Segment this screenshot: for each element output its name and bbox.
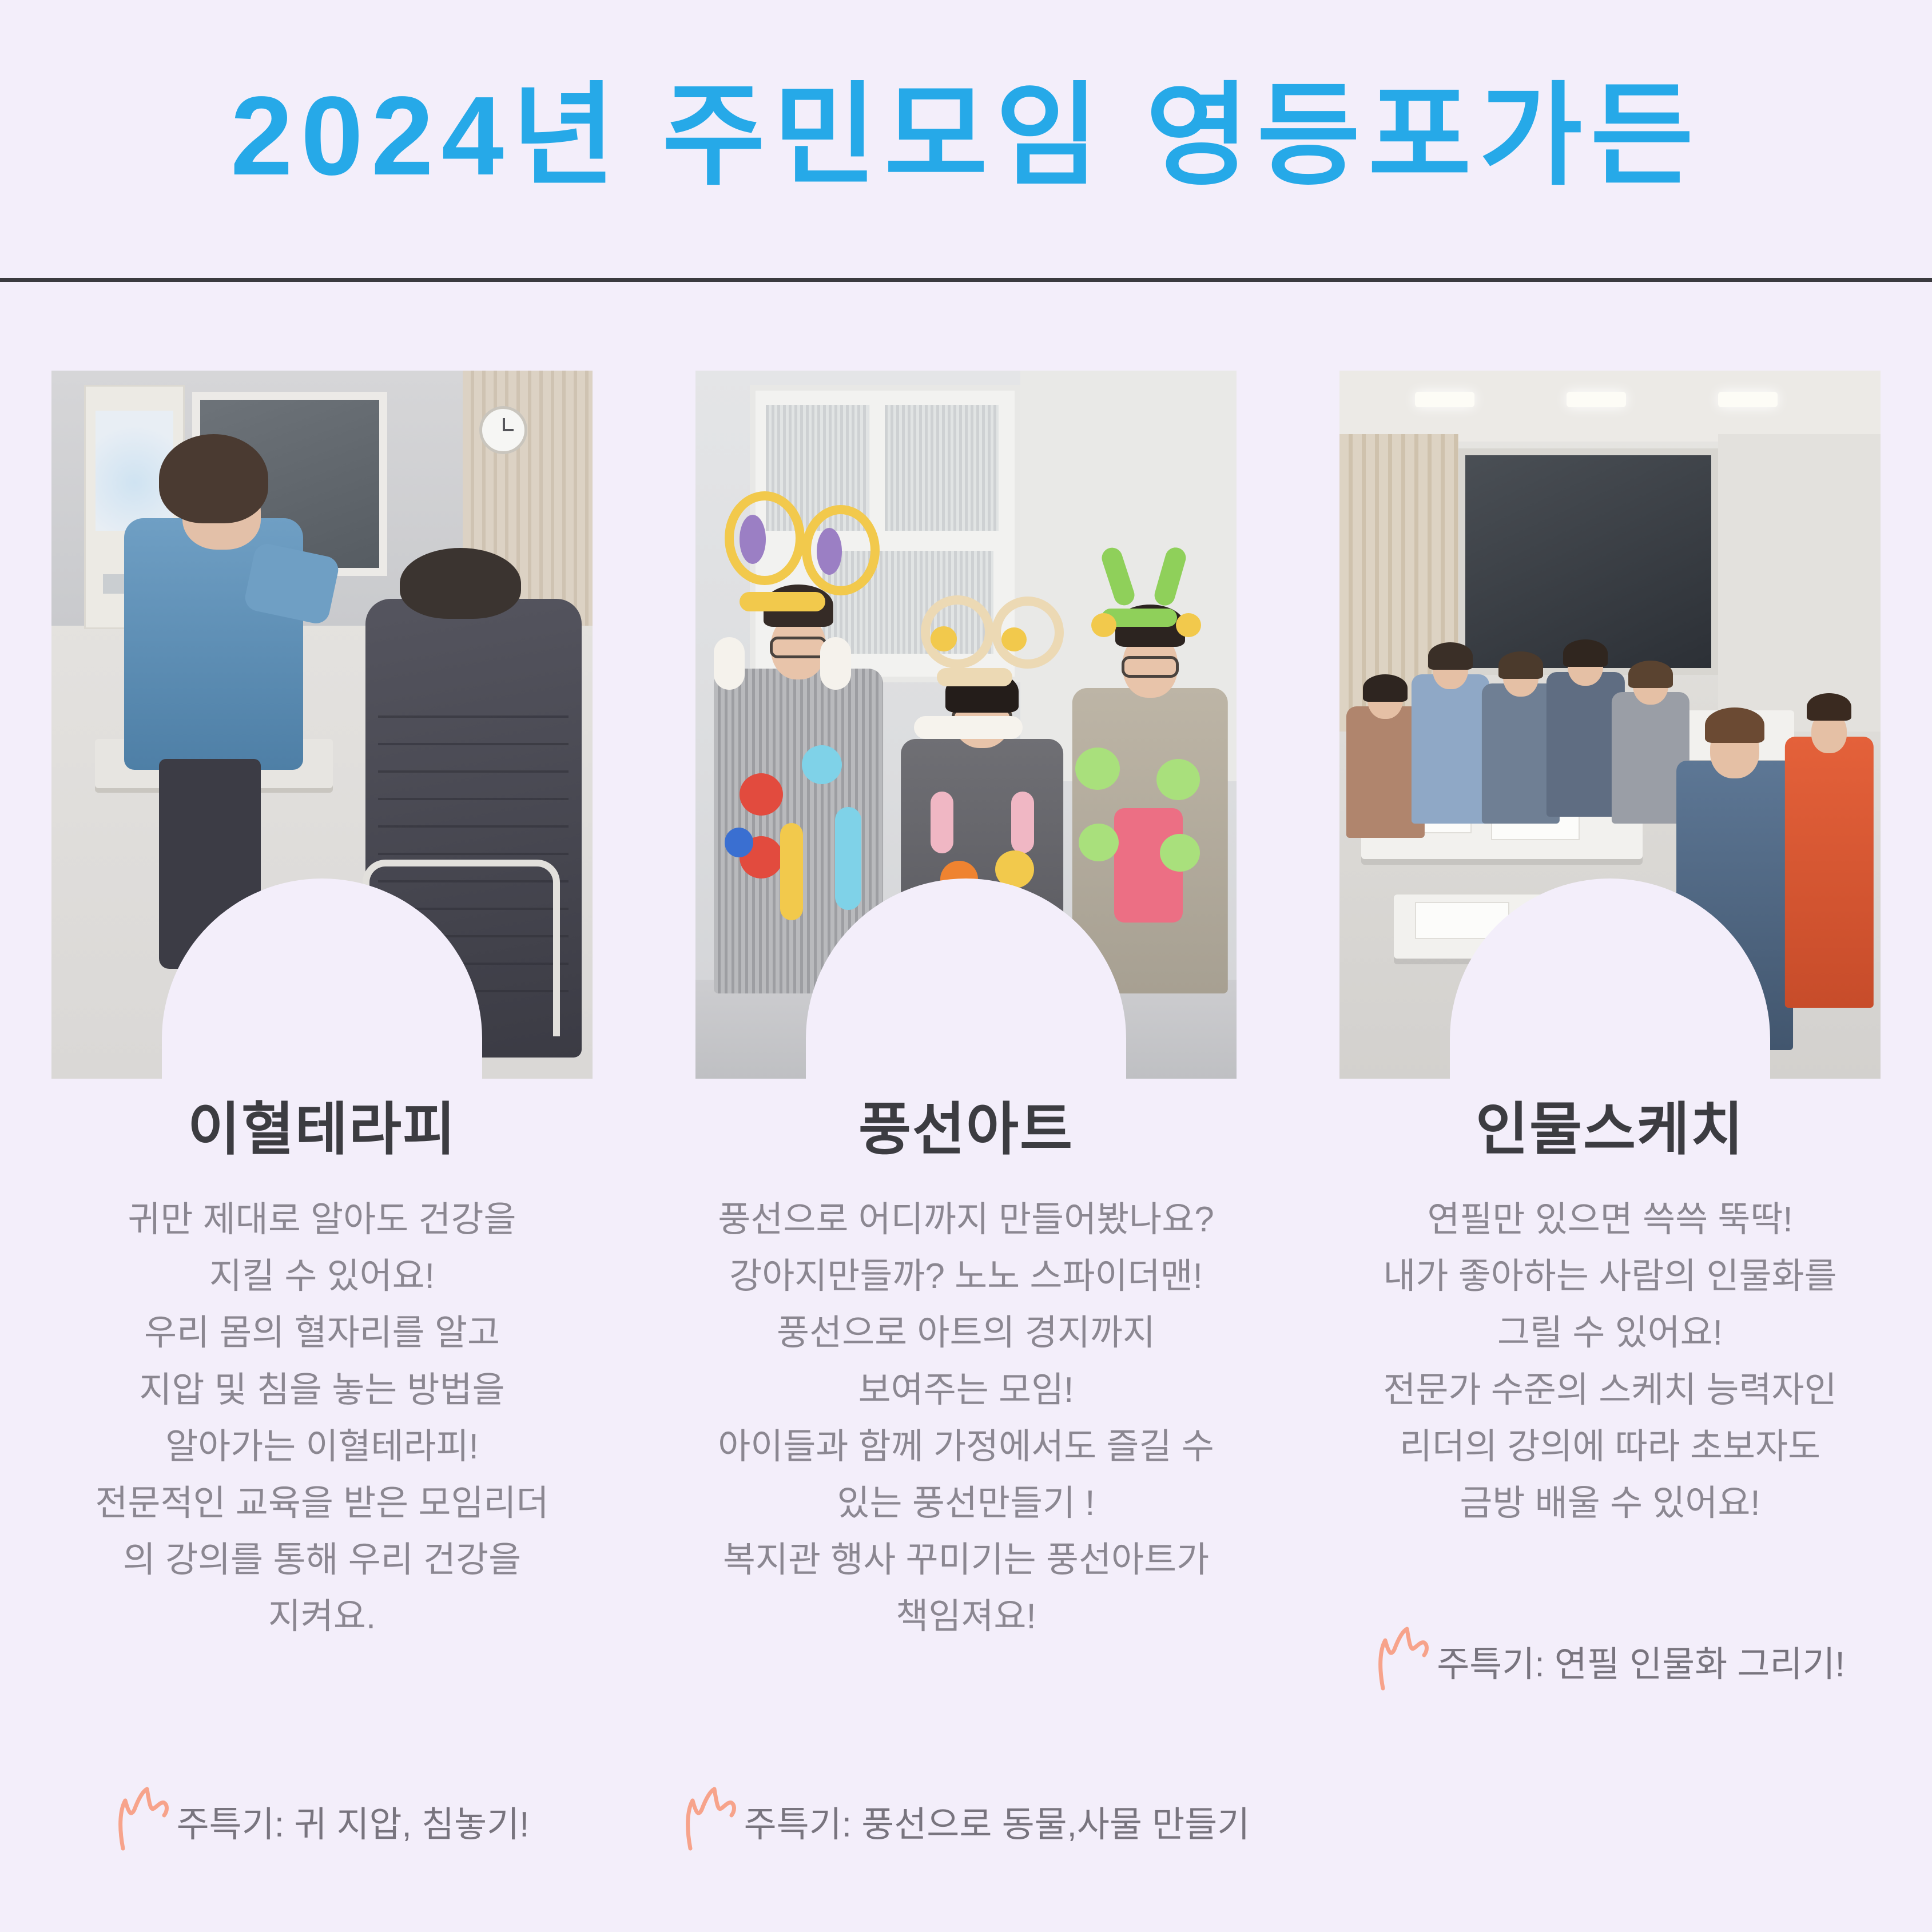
program-columns: 이혈테라피 귀만 제대로 알아도 건강을 지킬 수 있어요! 우리 몸의 혈자리… [0,282,1932,1932]
wall-clock-icon [479,406,527,454]
specialty-badge-0: 주특기: 귀 지압, 침놓기! [0,1783,644,1850]
description-line: 알아가는 이혈테라피! [15,1418,629,1475]
description-line: 풍선으로 어디까지 만들어봤나요? [659,1191,1273,1248]
description-line: 전문가 수준의 스케치 능력자인 [1303,1362,1917,1418]
crown-doodle-icon [115,1783,179,1851]
program-description-1: 풍선으로 어디까지 만들어봤나요? 강아지만들까? 노노 스파이더맨! 풍선으로… [644,1191,1288,1645]
program-photo-2 [1339,371,1881,1079]
program-name-0: 이혈테라피 [0,1101,644,1158]
specialty-text-2: 주특기: 연필 인물화 그리기! [1437,1647,1845,1689]
description-line: 연필만 있으면 쓱쓱 뚝딱! [1303,1191,1917,1248]
program-card-0: 이혈테라피 귀만 제대로 알아도 건강을 지킬 수 있어요! 우리 몸의 혈자리… [0,282,644,1932]
description-line: 내가 좋아하는 사람의 인물화를 [1303,1248,1917,1305]
program-name-2: 인물스케치 [1288,1101,1932,1158]
program-card-1: 풍선아트 풍선으로 어디까지 만들어봤나요? 강아지만들까? 노노 스파이더맨!… [644,282,1288,1932]
specialty-badge-1: 주특기: 풍선으로 동물,사물 만들기 [644,1783,1288,1850]
specialty-text-0: 주특기: 귀 지압, 침놓기! [177,1807,530,1850]
program-card-2: 인물스케치 연필만 있으면 쓱쓱 뚝딱! 내가 좋아하는 사람의 인물화를 그릴… [1288,282,1932,1932]
description-line: 있는 풍선만들기 ! [659,1475,1273,1532]
description-line: 그릴 수 있어요! [1303,1305,1917,1361]
header-divider [0,278,1932,282]
description-line: 지압 및 침을 놓는 방법을 [15,1362,629,1418]
description-line: 복지관 행사 꾸미기는 풍선아트가 [659,1532,1273,1588]
program-description-0: 귀만 제대로 알아도 건강을 지킬 수 있어요! 우리 몸의 혈자리를 알고 지… [0,1191,644,1645]
description-line: 금방 배울 수 있어요! [1303,1475,1917,1532]
description-line: 리더의 강의에 따라 초보자도 [1303,1418,1917,1475]
specialty-badge-2: 주특기: 연필 인물화 그리기! [1288,1623,1932,1689]
program-name-1: 풍선아트 [644,1101,1288,1158]
crown-doodle-icon [682,1783,746,1851]
poster-header: 2024년 주민모임 영등포가든 [0,0,1932,281]
page-title: 2024년 주민모임 영등포가든 [230,80,1702,192]
description-line: 풍선으로 아트의 경지까지 [659,1305,1273,1361]
specialty-text-1: 주특기: 풍선으로 동물,사물 만들기 [744,1807,1250,1850]
description-line: 의 강의를 통해 우리 건강을 [15,1532,629,1588]
description-line: 전문적인 교육을 받은 모임리더 [15,1475,629,1532]
program-photo-0 [51,371,593,1079]
description-line: 지켜요. [15,1588,629,1645]
description-line: 지킬 수 있어요! [15,1248,629,1305]
description-line: 보여주는 모임! [659,1362,1273,1418]
program-photo-1 [695,371,1237,1079]
description-line: 우리 몸의 혈자리를 알고 [15,1305,629,1361]
description-line: 강아지만들까? 노노 스파이더맨! [659,1248,1273,1305]
crown-doodle-icon [1375,1623,1439,1691]
description-line: 귀만 제대로 알아도 건강을 [15,1191,629,1248]
description-line: 아이들과 함께 가정에서도 즐길 수 [659,1418,1273,1475]
description-line: 책임져요! [659,1588,1273,1645]
program-description-2: 연필만 있으면 쓱쓱 뚝딱! 내가 좋아하는 사람의 인물화를 그릴 수 있어요… [1288,1191,1932,1532]
